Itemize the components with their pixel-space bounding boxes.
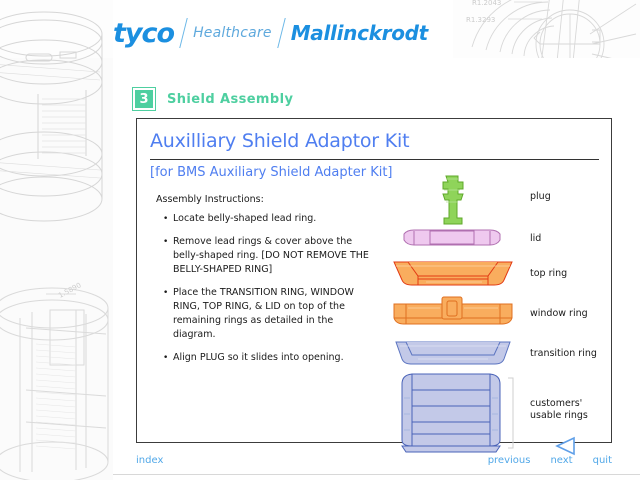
part-top-ring-graphic [392,258,514,288]
list-item: Locate belly-shaped lead ring. [163,212,378,226]
nav-previous-link[interactable]: previous [488,455,531,466]
logo-mallinckrodt-text: Mallinckrodt [291,21,428,45]
logo-tyco-text: tyco [113,20,174,47]
logo-healthcare-text: Healthcare [193,25,272,41]
part-lid-graphic [402,228,502,250]
cad-cross-section-drawing: 1.5890 [0,272,130,480]
cad-dimension-label-r12043: R1.2043 [472,0,501,7]
back-triangle-icon[interactable] [555,436,577,456]
part-plug-graphic [432,174,472,226]
section-title: Shield Assembly [167,92,293,107]
main-content-panel: Auxilliary Shield Adaptor Kit [for BMS A… [136,118,612,443]
part-label-top-ring: top ring [530,268,567,280]
part-window-ring-graphic [392,296,514,330]
step-number-badge: 3 [133,88,155,110]
part-transition-ring-graphic [392,338,514,368]
list-item: Align PLUG so it slides into opening. [163,351,378,365]
footer-nav-right-group: previous next quit [488,455,612,466]
list-item: Remove lead rings & cover above the bell… [163,235,378,277]
list-item: Place the TRANSITION RING, WINDOW RING, … [163,286,378,342]
part-label-transition-ring: transition ring [530,348,597,360]
logo-divider-2 [277,18,285,48]
cad-dimension-label: 1.5890 [57,281,82,300]
part-usable-rings-stack-graphic [396,372,516,458]
section-heading: 3 Shield Assembly [133,88,293,110]
panel-title-divider [150,159,599,160]
part-label-window-ring: window ring [530,308,588,320]
cad-dimension-label-r13293: R1.3293 [466,16,495,24]
brand-logo: tyco Healthcare Mallinckrodt [113,18,428,48]
part-label-usable-rings: customers' usable rings [530,398,605,422]
instruction-list: Locate belly-shaped lead ring. Remove le… [163,212,378,374]
footer-navigation: index previous next quit [136,455,612,466]
instructions-heading: Assembly Instructions: [156,194,264,205]
panel-subtitle: [for BMS Auxiliary Shield Adapter Kit] [150,165,393,180]
part-label-plug: plug [530,191,551,203]
nav-next-link[interactable]: next [550,455,572,466]
exploded-assembly-diagram: plug lid top ring [390,174,605,436]
footer-divider [113,474,640,475]
logo-divider-1 [179,18,187,48]
nav-index-link[interactable]: index [136,455,163,466]
nav-quit-link[interactable]: quit [593,455,612,466]
background-left-panel [0,0,113,480]
panel-title: Auxilliary Shield Adaptor Kit [150,130,409,152]
part-label-lid: lid [530,233,541,245]
